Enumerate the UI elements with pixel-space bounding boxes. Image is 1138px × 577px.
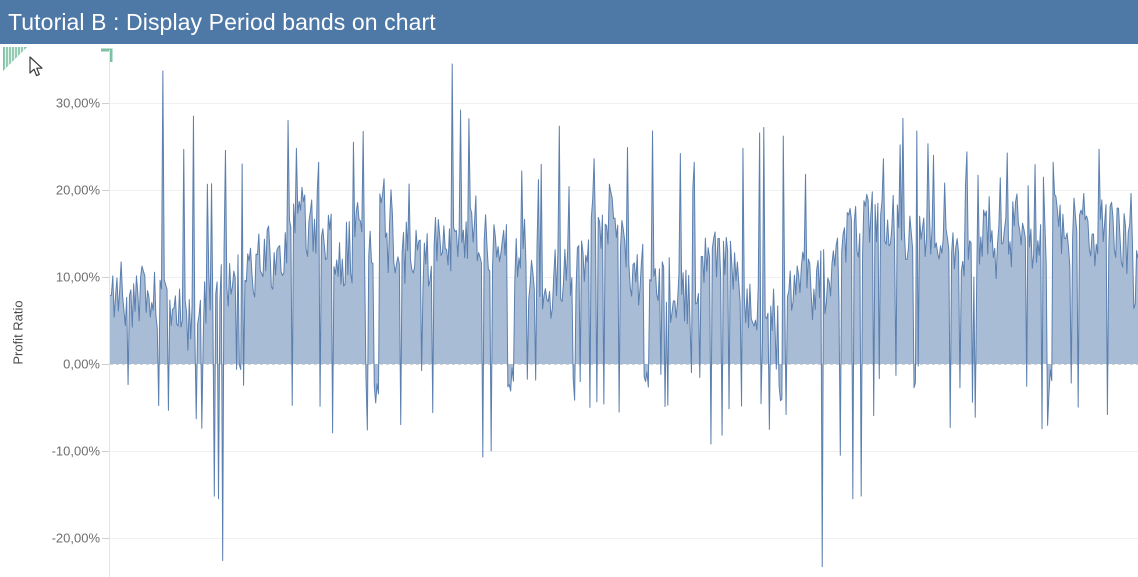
y-axis-tick-label: 0,00% <box>4 357 100 372</box>
profit-ratio-area-series <box>110 44 1138 577</box>
page-title: Tutorial B : Display Period bands on cha… <box>8 0 436 44</box>
area-fill <box>110 64 1138 567</box>
y-axis-tick-mark <box>102 364 109 365</box>
y-axis-tick-label: -10,00% <box>4 444 100 459</box>
y-axis-tick-label: -20,00% <box>4 531 100 546</box>
y-axis-tick-mark <box>102 103 109 104</box>
area-chart-plot[interactable] <box>110 44 1138 577</box>
y-axis-tick-mark <box>102 277 109 278</box>
chart-canvas: Profit Ratio 30,00%20,00%10,00%0,00%-10,… <box>0 44 1138 577</box>
mouse-pointer-icon <box>29 56 45 78</box>
y-axis-tick-label: 30,00% <box>4 96 100 111</box>
y-axis-tick-mark <box>102 190 109 191</box>
y-axis-tick-label: 10,00% <box>4 270 100 285</box>
striped-triangle-icon[interactable] <box>2 46 28 72</box>
y-axis-tick-label: 20,00% <box>4 183 100 198</box>
worksheet-title-bar: Tutorial B : Display Period bands on cha… <box>0 0 1138 44</box>
y-axis-title: Profit Ratio <box>11 273 26 393</box>
y-axis-tick-mark <box>102 538 109 539</box>
y-axis-tick-mark <box>102 451 109 452</box>
tableau-worksheet: Tutorial B : Display Period bands on cha… <box>0 0 1138 577</box>
